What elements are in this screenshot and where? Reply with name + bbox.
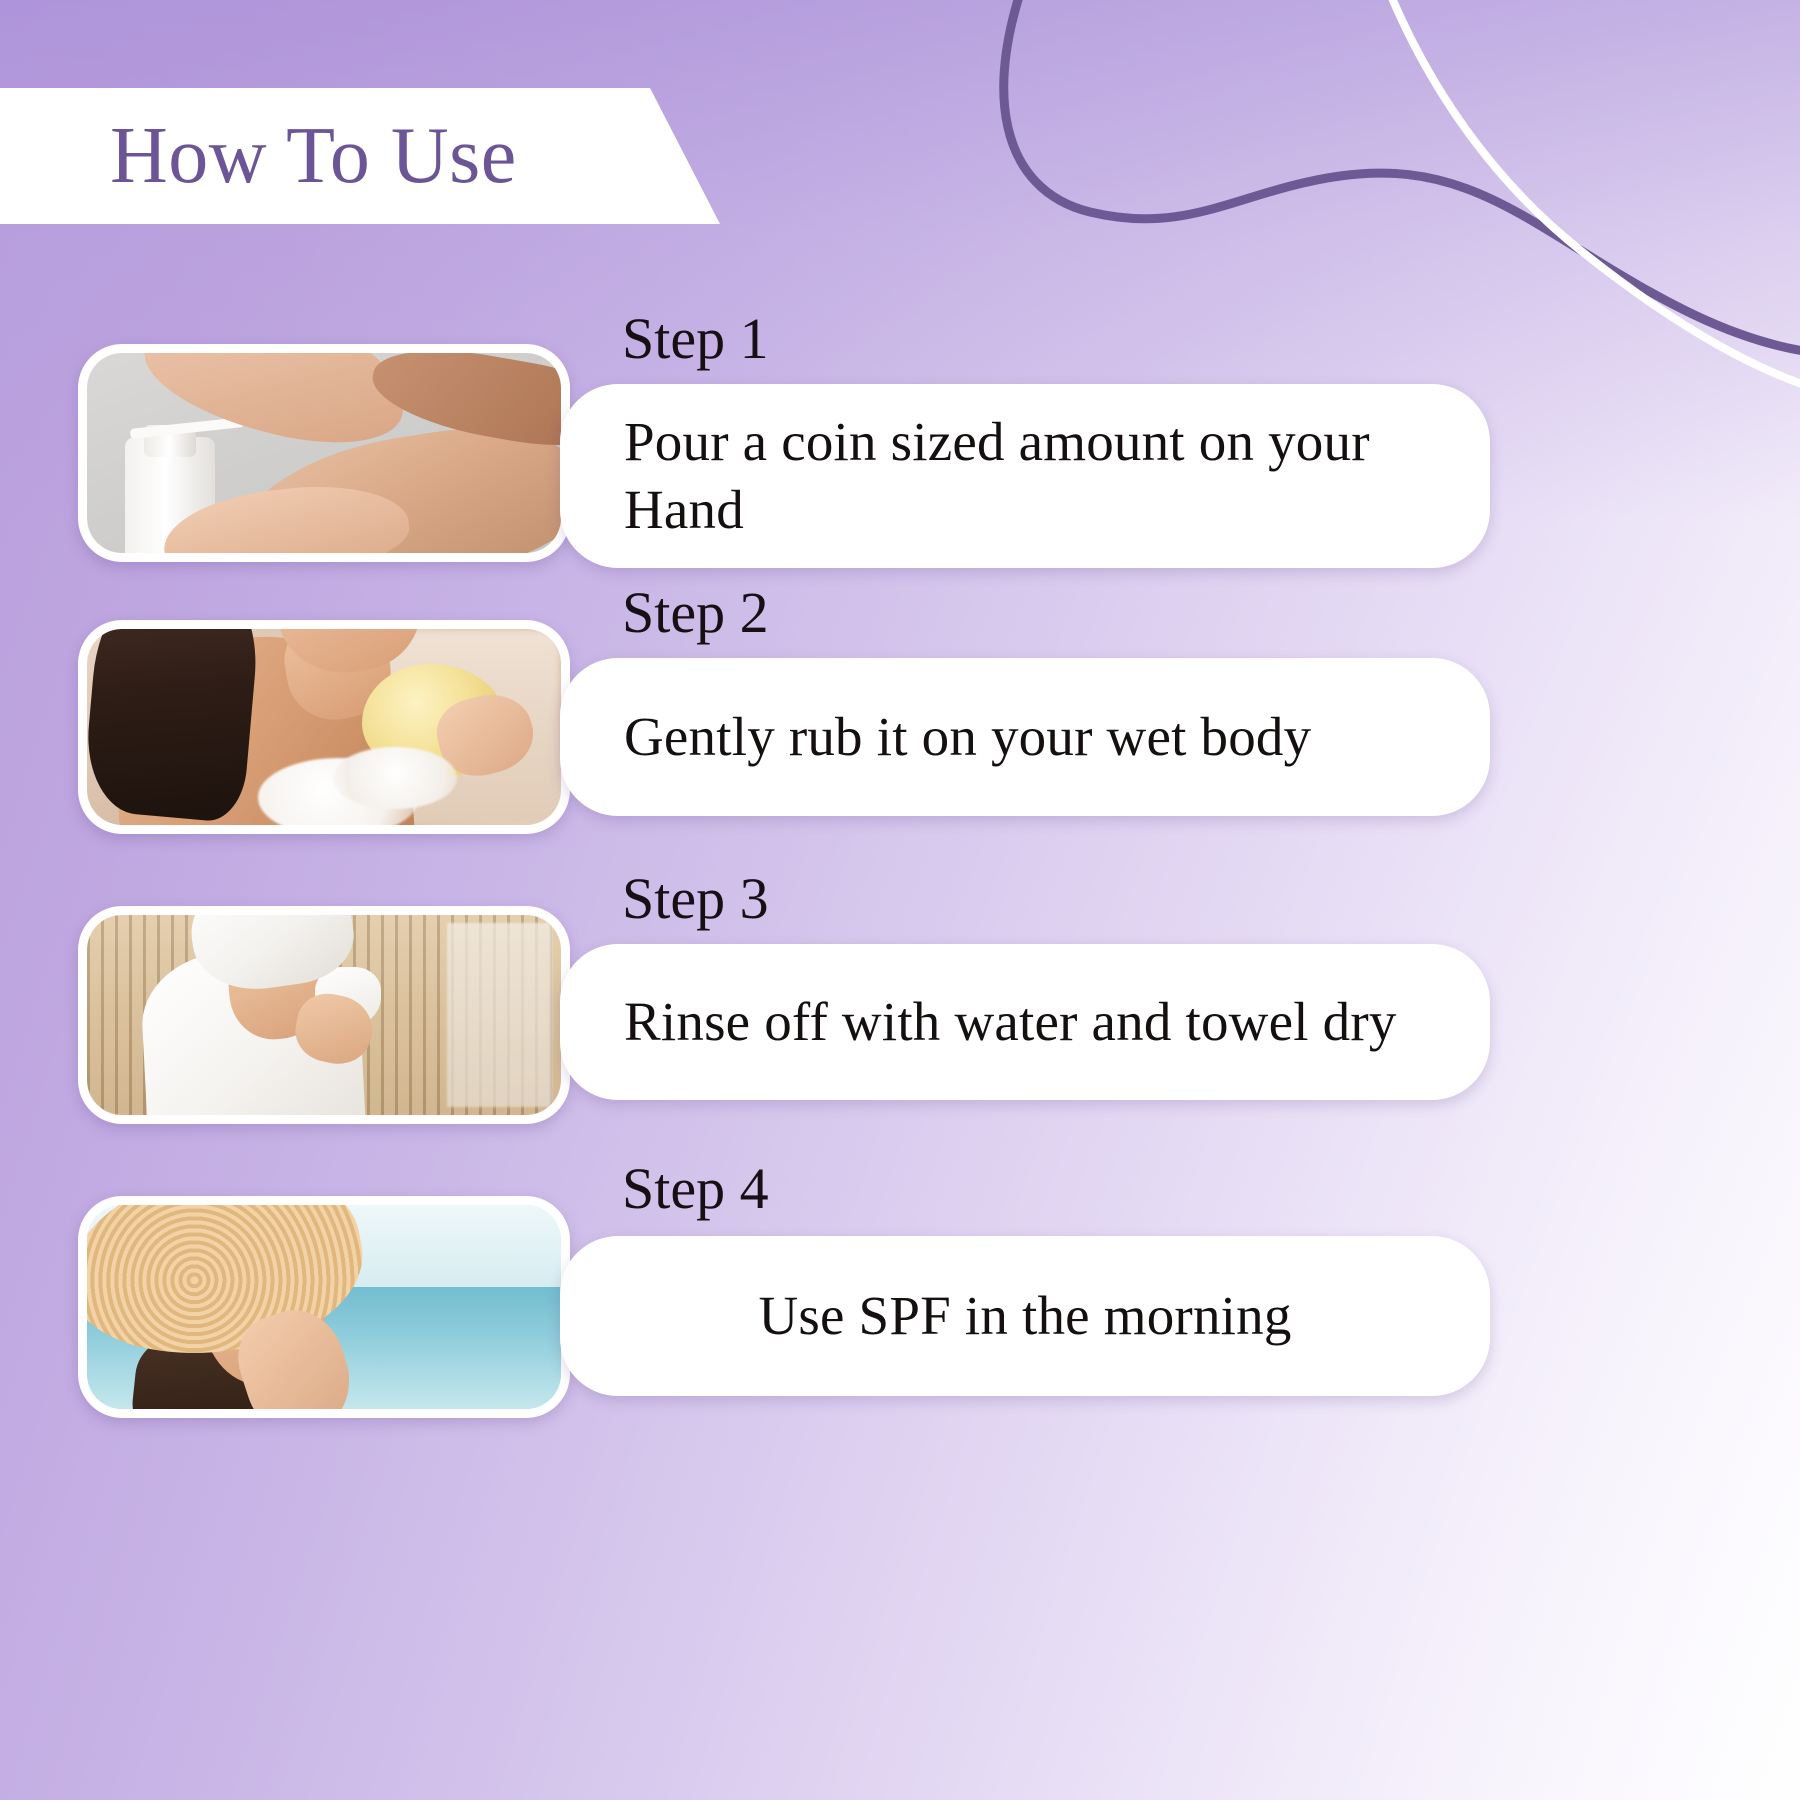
- step-3-label: Step 3: [622, 870, 769, 928]
- step-4-image: [78, 1196, 570, 1418]
- woman-towel-turban-bathrobe-photo: [87, 915, 561, 1115]
- step-1-text-card: Pour a coin sized amount on your Hand: [560, 384, 1490, 568]
- step-3-text: Rinse off with water and towel dry: [624, 988, 1397, 1056]
- step-3-image-frame: [87, 915, 561, 1115]
- pump-bottle-dispensing-into-hand-photo: [87, 353, 561, 553]
- step-4-label: Step 4: [622, 1160, 769, 1218]
- steps-list: Step 1 Pour a coin sized amount on your …: [0, 296, 1800, 1448]
- step-2-image: [78, 620, 570, 834]
- page-title: How To Use: [110, 116, 517, 196]
- step-row: Step 1 Pour a coin sized amount on your …: [0, 296, 1800, 584]
- step-2-text-card: Gently rub it on your wet body: [560, 658, 1490, 816]
- step-1-label: Step 1: [622, 310, 769, 368]
- step-4-text: Use SPF in the morning: [758, 1282, 1291, 1350]
- step-1-image: [78, 344, 570, 562]
- step-2-image-frame: [87, 629, 561, 825]
- step-2-text: Gently rub it on your wet body: [624, 703, 1311, 771]
- step-row: Step 2 Gently rub it on your wet body: [0, 584, 1800, 872]
- step-4-text-card: Use SPF in the morning: [560, 1236, 1490, 1396]
- step-1-image-frame: [87, 353, 561, 553]
- woman-straw-hat-beach-sunscreen-photo: [87, 1205, 561, 1409]
- step-4-image-frame: [87, 1205, 561, 1409]
- step-3-text-card: Rinse off with water and towel dry: [560, 944, 1490, 1100]
- step-1-text: Pour a coin sized amount on your Hand: [624, 408, 1426, 544]
- step-row: Step 3 Rinse off with water and towel dr…: [0, 872, 1800, 1160]
- step-2-label: Step 2: [622, 584, 769, 642]
- woman-shower-sponge-lather-photo: [87, 629, 561, 825]
- step-3-image: [78, 906, 570, 1124]
- page-title-banner: How To Use: [0, 88, 760, 224]
- step-row: Step 4 Use SPF in the morning: [0, 1160, 1800, 1448]
